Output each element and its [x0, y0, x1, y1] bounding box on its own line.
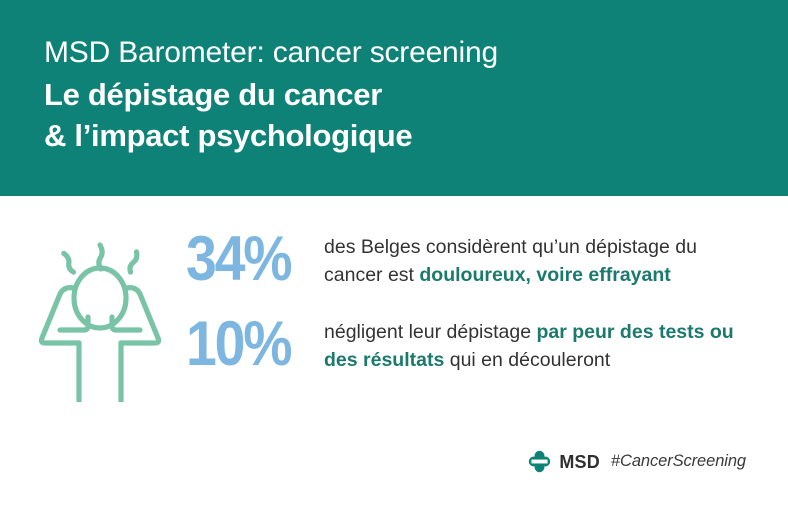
stat-description: négligent leur dépistage par peur des te… [324, 313, 754, 374]
msd-logo-icon [528, 450, 551, 473]
header-band: MSD Barometer: cancer screening Le dépis… [0, 0, 788, 196]
brand-footer: MSD #CancerScreening [528, 450, 746, 473]
header-text-block: MSD Barometer: cancer screening Le dépis… [44, 36, 758, 156]
body-area: 34% des Belges considèrent qu’un dépista… [0, 196, 788, 515]
stressed-person-icon [38, 232, 188, 402]
stressed-person-svg [38, 232, 188, 402]
header-title-line-2: & l’impact psychologique [44, 116, 758, 157]
stat-description: des Belges considèrent qu’un dépistage d… [324, 228, 754, 289]
statistics-list: 34% des Belges considèrent qu’un dépista… [186, 228, 766, 383]
stat-text-plain: négligent leur dépistage [324, 321, 537, 343]
stat-percentage: 10% [186, 315, 307, 374]
stat-percentage: 34% [186, 230, 307, 289]
stat-row: 10% négligent leur dépistage par peur de… [186, 313, 766, 374]
stat-text-highlight: douloureux, voire effrayant [419, 264, 670, 286]
infographic-canvas: MSD Barometer: cancer screening Le dépis… [0, 0, 788, 515]
header-kicker: MSD Barometer: cancer screening [44, 36, 758, 70]
campaign-hashtag: #CancerScreening [611, 453, 746, 470]
stat-text-plain-tail: qui en découleront [444, 349, 610, 371]
header-title-line-1: Le dépistage du cancer [44, 75, 758, 116]
msd-wordmark: MSD [559, 453, 600, 471]
stat-row: 34% des Belges considèrent qu’un dépista… [186, 228, 766, 289]
